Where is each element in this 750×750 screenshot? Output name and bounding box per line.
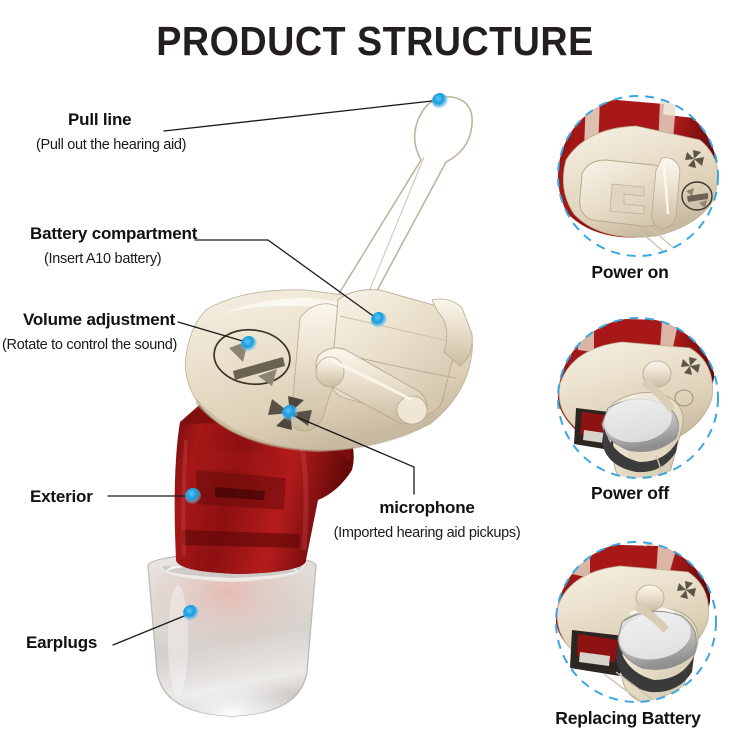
- callout-microphone: microphone (Imported hearing aid pickups…: [327, 498, 527, 541]
- inset-power-on: [554, 94, 722, 260]
- inset-replacing-battery: [554, 540, 720, 710]
- callout-microphone-title: microphone: [327, 498, 527, 518]
- callout-earplugs-title: Earplugs: [26, 633, 97, 653]
- inset-power-off: [556, 316, 722, 490]
- leader-pull-line: [164, 101, 432, 131]
- callout-volume-adjustment: Volume adjustment (Rotate to control the…: [23, 310, 177, 353]
- marker-earplugs: [183, 605, 199, 621]
- callout-pull-line: Pull line (Pull out the hearing aid): [68, 110, 186, 153]
- inset-label-replacing-battery: Replacing Battery: [518, 708, 738, 729]
- callout-battery-compartment-subtitle: (Insert A10 battery): [44, 251, 197, 267]
- marker-pull-line: [432, 93, 448, 109]
- callout-exterior: Exterior: [30, 487, 93, 507]
- callout-battery-compartment: Battery compartment (Insert A10 battery): [30, 224, 197, 267]
- marker-battery: [371, 312, 387, 328]
- callout-pull-line-title: Pull line: [68, 110, 186, 130]
- earplug-dome: [140, 552, 330, 728]
- callout-pull-line-subtitle: (Pull out the hearing aid): [36, 137, 186, 153]
- inset-label-power-on: Power on: [520, 262, 740, 283]
- marker-microphone: [282, 405, 298, 421]
- callout-exterior-title: Exterior: [30, 487, 93, 507]
- marker-exterior: [185, 488, 201, 504]
- inset-label-power-off: Power off: [520, 483, 740, 504]
- callout-microphone-subtitle: (Imported hearing aid pickups): [327, 525, 527, 541]
- callout-volume-adjustment-subtitle: (Rotate to control the sound): [2, 337, 177, 353]
- callout-battery-compartment-title: Battery compartment: [30, 224, 197, 244]
- marker-volume: [241, 336, 257, 352]
- callout-volume-adjustment-title: Volume adjustment: [23, 310, 177, 330]
- pull-line: [338, 97, 472, 306]
- product-structure-diagram: PRODUCT STRUCTURE: [0, 0, 750, 750]
- callout-earplugs: Earplugs: [26, 633, 97, 653]
